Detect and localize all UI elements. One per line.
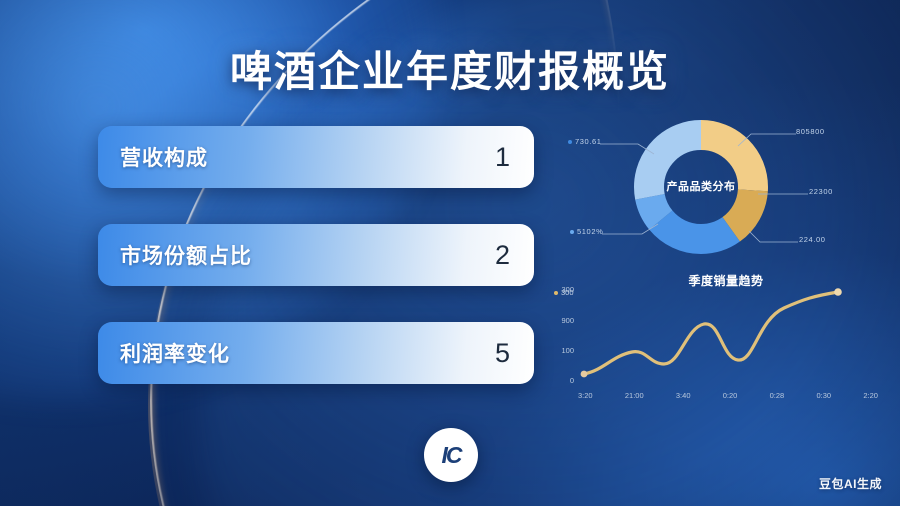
page-title: 啤酒企业年度财报概览 [0, 38, 900, 99]
donut-slice-label-text: 5102% [577, 227, 603, 236]
list-item[interactable]: 利润率变化 5 [98, 322, 534, 384]
brand-logo-text: IC [442, 442, 461, 469]
donut-center-label: 产品品类分布 [646, 178, 756, 194]
x-tick: 0:28 [770, 391, 785, 400]
slide-root: 啤酒企业年度财报概览 营收构成 1 市场份额占比 2 利润率变化 5 [0, 0, 900, 506]
line-point-end [834, 288, 842, 296]
line-chart-series [584, 292, 838, 374]
agenda-list: 营收构成 1 市场份额占比 2 利润率变化 5 [98, 126, 534, 384]
line-chart-svg [546, 272, 886, 402]
x-tick: 0:20 [723, 391, 738, 400]
donut-legend-dot [570, 230, 574, 234]
list-item-number: 1 [495, 142, 510, 173]
donut-slice-label-805800: 805800 [796, 127, 825, 136]
list-item-number: 5 [495, 338, 510, 369]
list-item-number: 2 [495, 240, 510, 271]
x-tick: 3:40 [676, 391, 691, 400]
donut-chart: 产品品类分布 805800 22300 224.00 5102% 730.61 [546, 112, 886, 262]
donut-legend-dot [568, 140, 572, 144]
list-item-label: 营收构成 [120, 142, 208, 172]
donut-slice-label-730: 730.61 [568, 137, 602, 146]
list-item[interactable]: 市场份额占比 2 [98, 224, 534, 286]
x-tick: 2:20 [863, 391, 878, 400]
line-point-start [581, 371, 588, 378]
brand-logo: IC [424, 428, 478, 482]
list-item-label: 市场份额占比 [120, 240, 252, 270]
x-tick: 21:00 [625, 391, 644, 400]
donut-slice-label-22300: 22300 [809, 187, 833, 196]
list-item[interactable]: 营收构成 1 [98, 126, 534, 188]
donut-slice-label-text: 730.61 [575, 137, 602, 146]
donut-slice-label-224: 224.00 [799, 235, 826, 244]
list-item-label: 利润率变化 [120, 338, 230, 368]
x-tick: 3:20 [578, 391, 593, 400]
watermark: 豆包AI生成 [819, 475, 882, 492]
line-chart: 季度销量趋势 300 300 900 100 0 3:20 21:00 3:40… [546, 272, 886, 402]
x-axis-ticks: 3:20 21:00 3:40 0:20 0:28 0:30 2:20 [578, 391, 878, 400]
donut-slice-label-5102: 5102% [570, 227, 603, 236]
charts-panel: 产品品类分布 805800 22300 224.00 5102% 730.61 … [546, 112, 886, 402]
x-tick: 0:30 [816, 391, 831, 400]
